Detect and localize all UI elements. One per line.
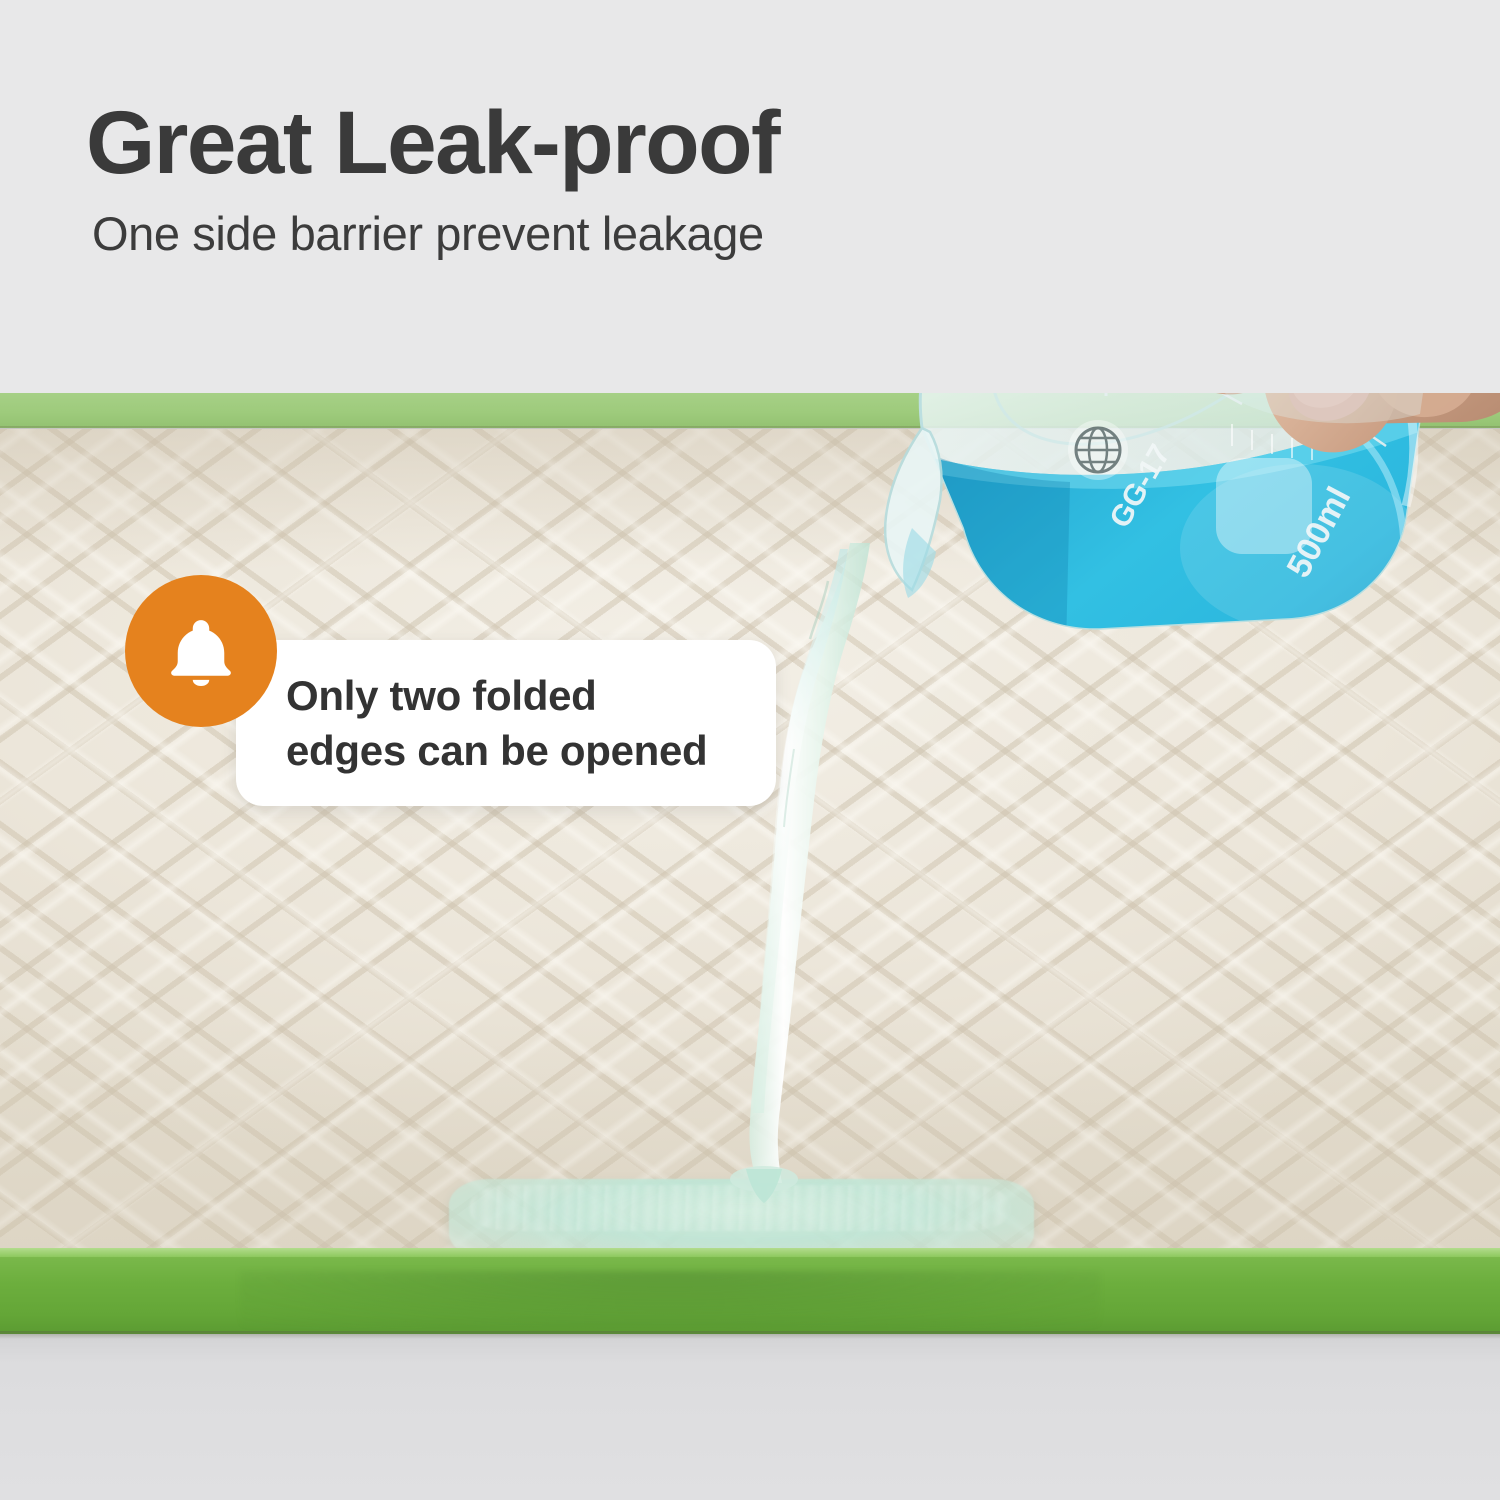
liquid-puddle-sheen — [470, 1185, 1010, 1231]
logo-plate — [1216, 458, 1312, 554]
beaker-body — [870, 393, 1490, 688]
bell-icon — [168, 616, 234, 686]
product-feature-image: 500 APPROX 300 200 100 GG-17 500ml — [0, 0, 1500, 1500]
callout-text-line-1: Only two folded — [286, 668, 776, 723]
beaker-svg: 500 APPROX 300 200 100 GG-17 500ml — [830, 393, 1500, 688]
product-photo-scene: 500 APPROX 300 200 100 GG-17 500ml — [0, 393, 1500, 1500]
page-title: Great Leak-proof — [86, 98, 779, 187]
callout-text-line-2: edges can be opened — [286, 723, 776, 778]
callout-icon-badge — [125, 575, 277, 727]
mat-barrier-wet-shadow — [240, 1271, 1100, 1329]
mat-barrier-bottom-shadow — [0, 1331, 1500, 1339]
background-floor — [0, 1333, 1500, 1500]
callout-card: Only two folded edges can be opened — [236, 640, 776, 806]
page-subtitle: One side barrier prevent leakage — [92, 208, 764, 260]
header-band: Great Leak-proof One side barrier preven… — [0, 0, 1500, 393]
mat-barrier-bottom-highlight — [0, 1248, 1500, 1257]
beaker-and-hand: 500 APPROX 300 200 100 GG-17 500ml — [830, 393, 1500, 688]
globe-icon — [1068, 420, 1128, 480]
